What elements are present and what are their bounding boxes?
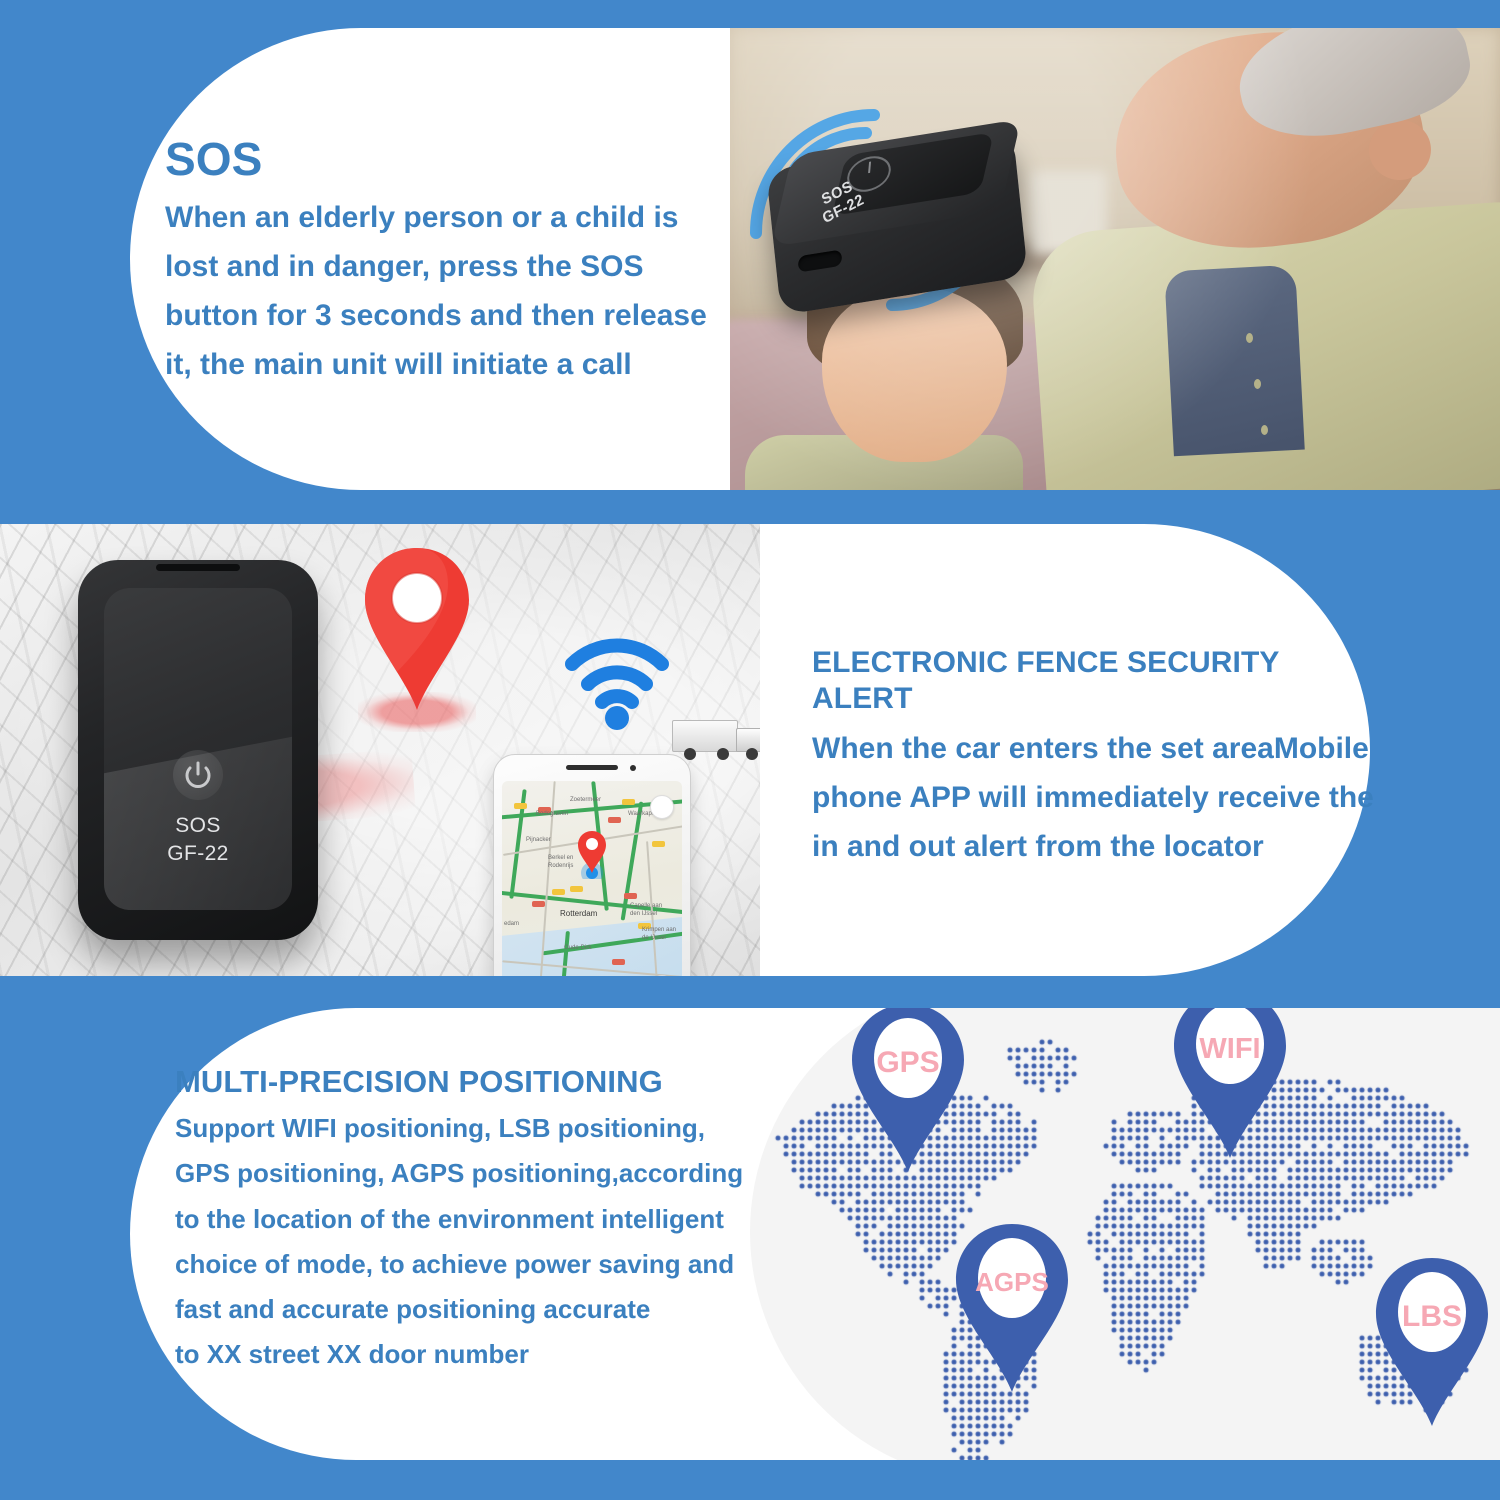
multiprecision-body-line: to the location of the environment intel… [175, 1197, 715, 1242]
multiprecision-body-line: choice of mode, to achieve power saving … [175, 1242, 715, 1287]
sos-body-line: it, the main unit will initiate a call [165, 341, 725, 390]
map-label: Bodegraven [536, 811, 568, 817]
sos-body: When an elderly person or a child is los… [165, 194, 725, 390]
fence-body-line: phone APP will immediately receive the [812, 774, 1382, 823]
infographic-root: SOS GF-22 SOS When an elderly person or … [0, 0, 1500, 1500]
multiprecision-text-block: MULTI-PRECISION POSITIONING Support WIFI… [175, 1063, 715, 1378]
map-label-city: Rotterdam [560, 909, 597, 918]
fence-body: When the car enters the set areaMobile p… [812, 725, 1382, 872]
map-pin-wifi: WIFI [1168, 1008, 1292, 1167]
panel-sos: SOS GF-22 SOS When an elderly person or … [0, 28, 1500, 490]
map-pin-gps: GPS [846, 1008, 970, 1181]
multiprecision-body-line: fast and accurate positioning accurate [175, 1287, 715, 1332]
map-pin-lbs-label: LBS [1402, 1300, 1462, 1333]
map-label: Capelle aan [630, 903, 662, 909]
map-pin-agps: AGPS [950, 1220, 1074, 1401]
map-pin-agps-label: AGPS [975, 1267, 1049, 1297]
device-brand-line2: GF-22 [78, 840, 318, 868]
map-label: Krimpen aan [642, 927, 676, 933]
sos-title: SOS [165, 136, 725, 184]
multiprecision-title: MULTI-PRECISION POSITIONING [175, 1063, 715, 1100]
gps-tracker-device-3d: SOS GF-22 [742, 93, 1062, 343]
map-layers-button[interactable] [650, 795, 674, 819]
map-label: Pijnacker [526, 837, 551, 843]
panel-multi-precision: GPS WIFI AGPS [0, 1008, 1500, 1460]
fence-title: ELECTRONIC FENCE SECURITY ALERT [812, 645, 1382, 717]
smartphone-app-map: Zoetermeer Bodegraven Waarkapelle Pijnac… [493, 754, 691, 976]
phone-camera [630, 765, 636, 771]
map-pin-lbs: LBS [1370, 1254, 1494, 1435]
location-pin-icon [352, 542, 482, 742]
pin-shadow [358, 692, 476, 732]
sos-body-line: button for 3 seconds and then release [165, 292, 725, 341]
multiprecision-body-line: Support WIFI positioning, LSB positionin… [175, 1106, 715, 1151]
fence-text-block: ELECTRONIC FENCE SECURITY ALERT When the… [812, 645, 1382, 872]
multiprecision-body-line: to XX street XX door number [175, 1332, 715, 1377]
power-button-icon [173, 750, 223, 800]
fence-body-line: in and out alert from the locator [812, 823, 1382, 872]
sos-body-line: When an elderly person or a child is [165, 194, 725, 243]
map-label: Zoetermeer [570, 797, 601, 803]
sos-body-line: lost and in danger, press the SOS [165, 243, 725, 292]
world-map-graphic: GPS WIFI AGPS [750, 1008, 1500, 1460]
map-label: den IJssel [630, 911, 657, 917]
wifi-icon [552, 620, 682, 730]
phone-screen: Zoetermeer Bodegraven Waarkapelle Pijnac… [502, 781, 682, 976]
map-label: Rodenrijs [548, 863, 573, 869]
device-brand-label: SOS GF-22 [78, 812, 318, 868]
map-pin-wifi-label: WIFI [1199, 1033, 1260, 1065]
device-notch [156, 564, 240, 571]
multiprecision-body-line: GPS positioning, AGPS positioning,accord… [175, 1151, 715, 1196]
gps-tracker-device-front: SOS GF-22 [78, 560, 318, 940]
phone-speaker [566, 765, 618, 770]
fence-map-photo: SOS GF-22 [0, 524, 800, 976]
map-label: edam [504, 921, 519, 927]
device-brand-line1: SOS [78, 812, 318, 840]
map-pin-icon [575, 829, 609, 879]
fence-body-line: When the car enters the set areaMobile [812, 725, 1382, 774]
map-label: Berkel en [548, 855, 573, 861]
sos-text-block: SOS When an elderly person or a child is… [165, 136, 725, 389]
multiprecision-body: Support WIFI positioning, LSB positionin… [175, 1106, 715, 1377]
map-label: de IJssel [642, 935, 666, 941]
map-pin-gps-label: GPS [876, 1046, 939, 1079]
map-label: Oude-Dirk [564, 945, 591, 951]
